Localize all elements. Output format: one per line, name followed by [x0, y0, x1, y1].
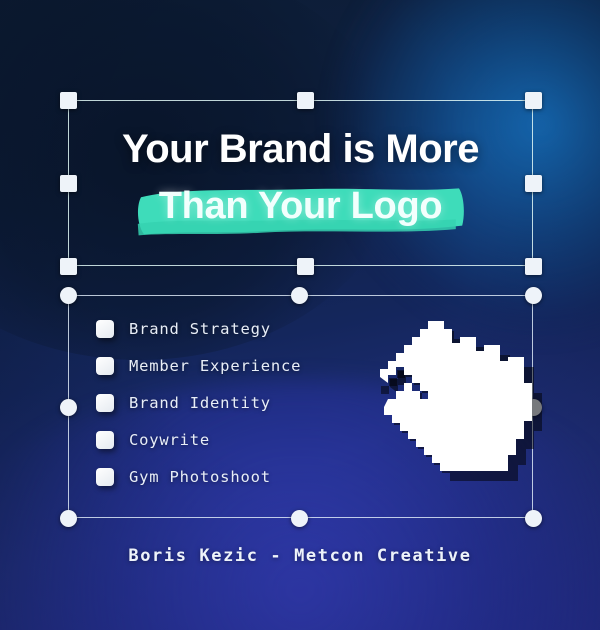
list-item[interactable]: Member Experience	[96, 357, 301, 375]
list-item[interactable]: Brand Strategy	[96, 320, 301, 338]
list-handle-bottom-left[interactable]	[60, 510, 77, 527]
checkbox-icon[interactable]	[96, 320, 114, 338]
title-handle-bottom-left[interactable]	[60, 258, 77, 275]
title-handle-middle-left[interactable]	[60, 175, 77, 192]
list-handle-top-center[interactable]	[291, 287, 308, 304]
checkbox-icon[interactable]	[96, 394, 114, 412]
headline-line-2: Than Your Logo	[159, 186, 443, 227]
list-handle-top-right[interactable]	[525, 287, 542, 304]
title-handle-bottom-center[interactable]	[297, 258, 314, 275]
title-handle-top-right[interactable]	[525, 92, 542, 109]
title-handle-top-center[interactable]	[297, 92, 314, 109]
list-item-label: Member Experience	[129, 357, 301, 375]
list-handle-top-left[interactable]	[60, 287, 77, 304]
title-handle-top-left[interactable]	[60, 92, 77, 109]
headline-line-1: Your Brand is More	[122, 129, 479, 169]
list-handle-middle-right[interactable]	[525, 399, 542, 416]
slide-canvas: Your Brand is More Than Your Logo Brand …	[0, 0, 600, 630]
headline-group: Your Brand is More Than Your Logo	[68, 100, 533, 266]
headline-brush-group: Than Your Logo	[133, 181, 469, 236]
list-item-label: Brand Strategy	[129, 320, 271, 338]
list-handle-bottom-right[interactable]	[525, 510, 542, 527]
list-item-label: Coywrite	[129, 431, 210, 449]
list-item-label: Gym Photoshoot	[129, 468, 271, 486]
checkbox-icon[interactable]	[96, 431, 114, 449]
checklist: Brand Strategy Member Experience Brand I…	[96, 320, 301, 486]
list-item-label: Brand Identity	[129, 394, 271, 412]
title-handle-bottom-right[interactable]	[525, 258, 542, 275]
list-handle-middle-left[interactable]	[60, 399, 77, 416]
checkbox-icon[interactable]	[96, 468, 114, 486]
checkbox-icon[interactable]	[96, 357, 114, 375]
list-item[interactable]: Brand Identity	[96, 394, 301, 412]
credit-text: Boris Kezic - Metcon Creative	[0, 546, 600, 566]
list-item[interactable]: Gym Photoshoot	[96, 468, 301, 486]
list-handle-bottom-center[interactable]	[291, 510, 308, 527]
title-handle-middle-right[interactable]	[525, 175, 542, 192]
list-item[interactable]: Coywrite	[96, 431, 301, 449]
